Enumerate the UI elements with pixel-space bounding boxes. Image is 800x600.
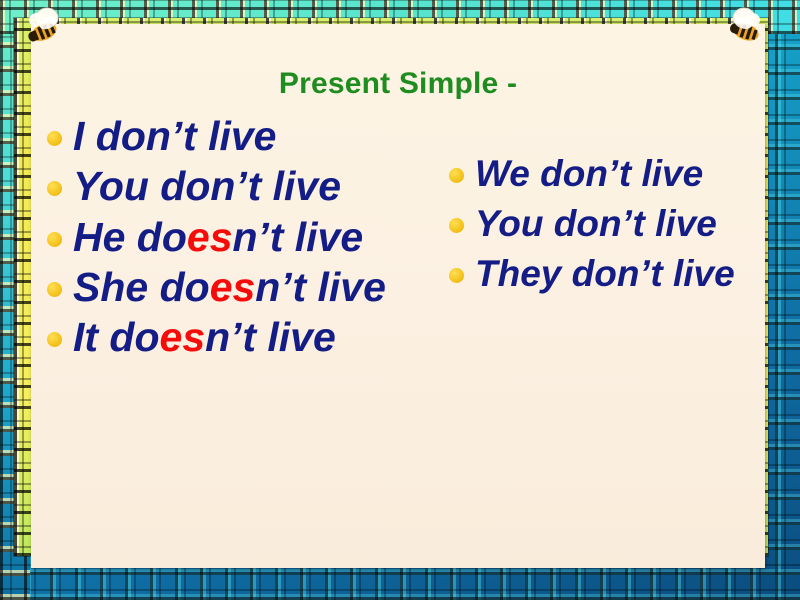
list-item-text: You don’t live bbox=[73, 163, 341, 209]
bullet-list-left: I don’t live You don’t live He doesn’t l… bbox=[39, 114, 459, 365]
bullet-dot-icon bbox=[47, 232, 62, 247]
content-paper: Present Simple - I don’t live You don’t … bbox=[31, 24, 765, 568]
list-item: We don’t live bbox=[441, 154, 765, 194]
bullet-dot-icon bbox=[47, 131, 62, 146]
list-item: It doesn’t live bbox=[39, 315, 459, 359]
bullet-dot-icon bbox=[449, 168, 464, 183]
bullet-dot-icon bbox=[449, 218, 464, 233]
bullet-dot-icon bbox=[47, 282, 62, 297]
list-item: I don’t live bbox=[39, 114, 459, 158]
list-item-text: He do bbox=[73, 214, 187, 260]
list-item-highlight: es bbox=[160, 314, 206, 360]
page-title: Present Simple - bbox=[31, 67, 765, 101]
list-item-text-tail: n’t live bbox=[205, 314, 336, 360]
list-item-highlight: es bbox=[187, 214, 233, 260]
list-item-text-tail: n’t live bbox=[233, 214, 364, 260]
slide: Present Simple - I don’t live You don’t … bbox=[0, 0, 800, 600]
list-item: He doesn’t live bbox=[39, 215, 459, 259]
list-item-highlight: es bbox=[210, 264, 256, 310]
list-item-text: You don’t live bbox=[475, 203, 717, 244]
list-item-text: They don’t live bbox=[475, 253, 735, 294]
bullet-list-right: We don’t live You don’t live They don’t … bbox=[441, 154, 765, 304]
list-item: They don’t live bbox=[441, 254, 765, 294]
bullet-dot-icon bbox=[47, 332, 62, 347]
list-item-text: I don’t live bbox=[73, 113, 276, 159]
list-item: You don’t live bbox=[441, 204, 765, 244]
list-item: You don’t live bbox=[39, 164, 459, 208]
list-item-text: We don’t live bbox=[475, 153, 703, 194]
list-item-text: It do bbox=[73, 314, 160, 360]
list-item: She doesn’t live bbox=[39, 265, 459, 309]
bullet-dot-icon bbox=[449, 268, 464, 283]
list-item-text: She do bbox=[73, 264, 210, 310]
bullet-dot-icon bbox=[47, 181, 62, 196]
list-item-text-tail: n’t live bbox=[255, 264, 386, 310]
